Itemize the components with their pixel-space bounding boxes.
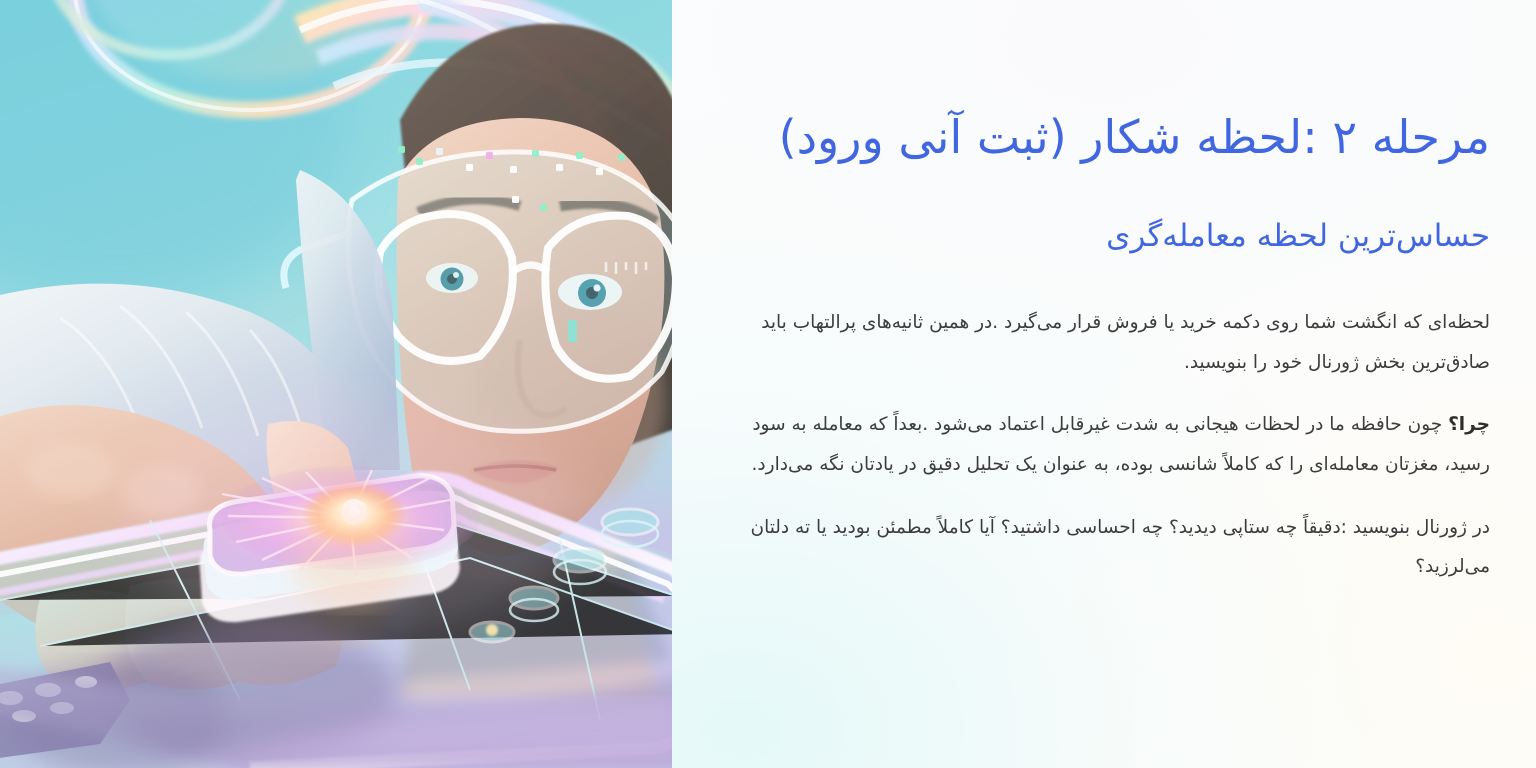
slide-root: مرحله ۲ :لحظه شکار (ثبت آنی ورود) حساس‌ت…: [0, 0, 1536, 768]
paragraph-1-text: لحظه‌ای که انگشت شما روی دکمه خرید یا فر…: [761, 312, 1490, 373]
text-content-wrapper: مرحله ۲ :لحظه شکار (ثبت آنی ورود) حساس‌ت…: [712, 0, 1490, 768]
hero-image: [0, 0, 672, 768]
hero-image-illustration: [0, 0, 672, 768]
page-title: مرحله ۲ :لحظه شکار (ثبت آنی ورود): [712, 104, 1490, 171]
paragraph-1: لحظه‌ای که انگشت شما روی دکمه خرید یا فر…: [712, 303, 1490, 382]
paragraph-3-text: در ژورنال بنویسید :دقیقاً چه ستاپی دیدید…: [750, 517, 1490, 578]
page-subtitle: حساس‌ترین لحظه معامله‌گری: [712, 213, 1490, 260]
paragraph-2: چرا؟ چون حافظه ما در لحظات هیجانی به شدت…: [712, 405, 1490, 484]
paragraph-2-lead: چرا؟: [1448, 414, 1490, 435]
paragraph-3: در ژورنال بنویسید :دقیقاً چه ستاپی دیدید…: [712, 508, 1490, 587]
body-copy: لحظه‌ای که انگشت شما روی دکمه خرید یا فر…: [712, 303, 1490, 586]
paragraph-2-text: چون حافظه ما در لحظات هیجانی به شدت غیرق…: [752, 414, 1490, 475]
text-panel: مرحله ۲ :لحظه شکار (ثبت آنی ورود) حساس‌ت…: [672, 0, 1536, 768]
